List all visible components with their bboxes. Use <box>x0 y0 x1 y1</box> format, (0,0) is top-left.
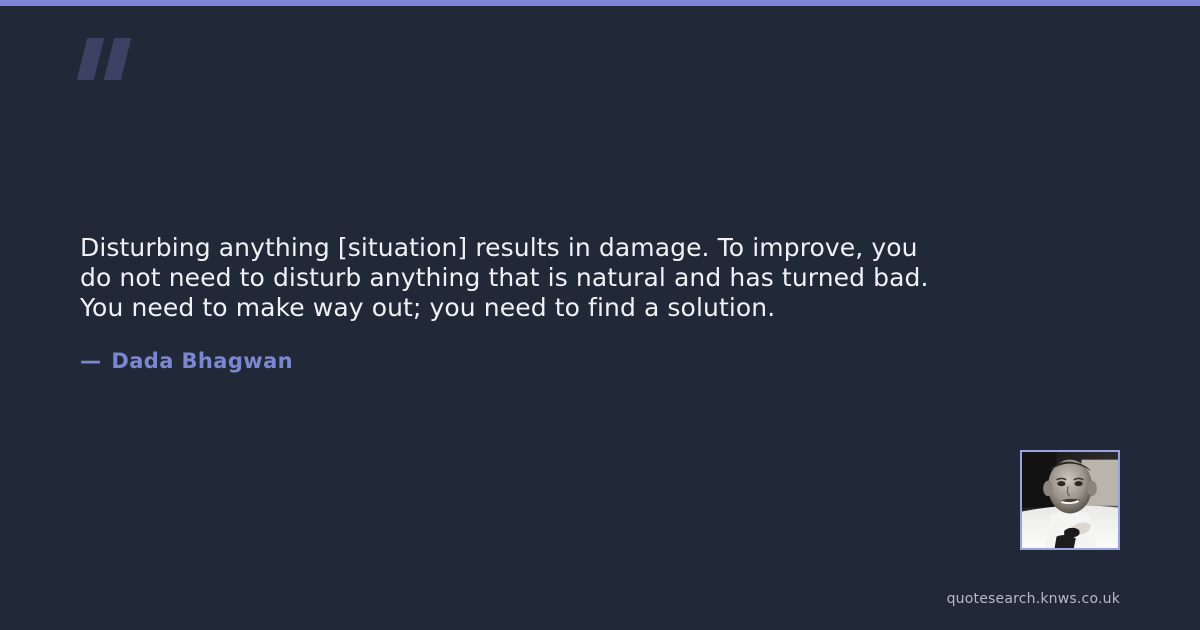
quote-mark-bar-right <box>104 38 131 80</box>
quote-card: Disturbing anything [situation] results … <box>0 0 1200 630</box>
double-quote-open-icon <box>80 38 132 80</box>
author-portrait-image <box>1022 452 1118 548</box>
author-name: Dada Bhagwan <box>111 349 293 373</box>
source-url: quotesearch.knws.co.uk <box>947 591 1120 607</box>
quote-text: Disturbing anything [situation] results … <box>80 233 1000 323</box>
quote-attribution: — Dada Bhagwan <box>80 349 293 373</box>
quote-mark-bar-left <box>77 38 104 80</box>
author-portrait <box>1020 450 1120 550</box>
top-accent-bar <box>0 0 1200 6</box>
attribution-dash: — <box>80 349 101 373</box>
